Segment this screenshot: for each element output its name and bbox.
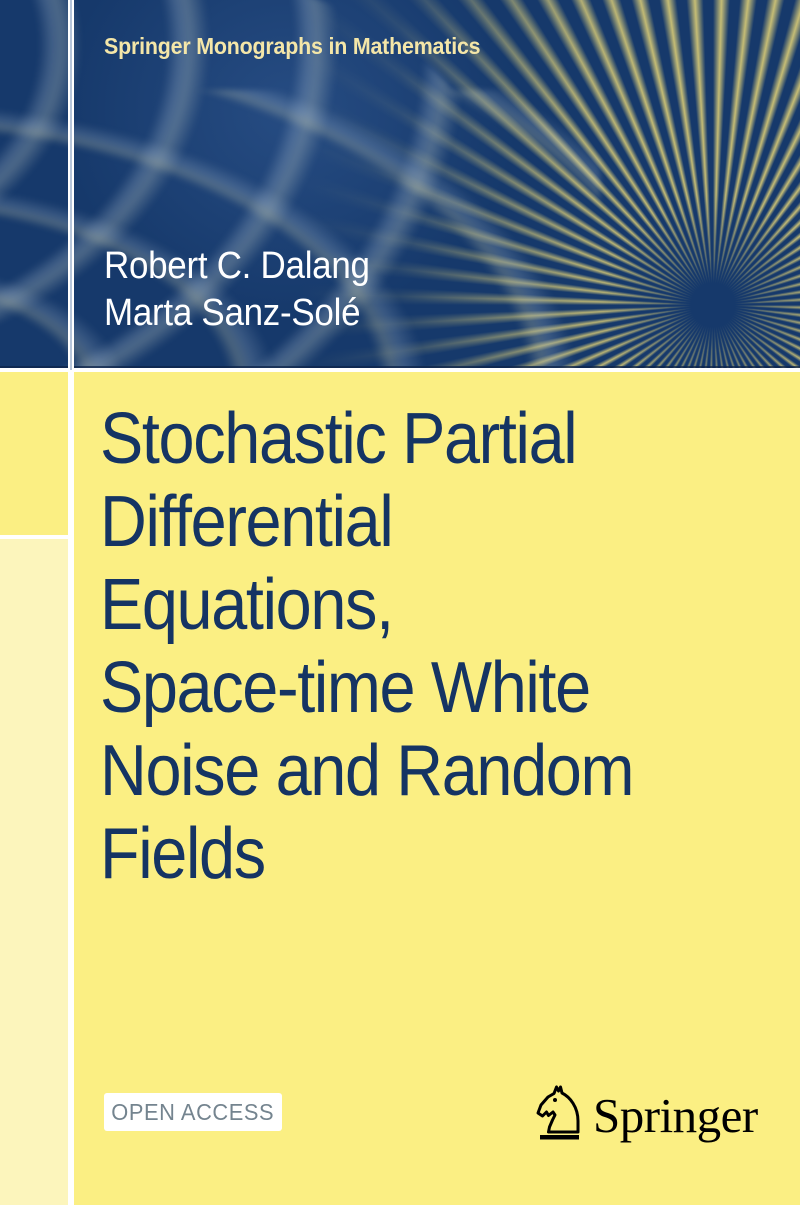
book-cover: Springer Monographs in Mathematics Rober… [0, 0, 800, 1205]
publisher-logo: Springer [533, 1082, 733, 1144]
spine-divider-line [70, 0, 72, 370]
open-access-badge-label: OPEN ACCESS [112, 1099, 275, 1126]
cover-header-artwork: Springer Monographs in Mathematics Rober… [0, 0, 800, 370]
title-line-4: Space-time White [100, 647, 676, 730]
author-name-secondary: Marta Sanz-Solé [104, 290, 370, 337]
book-title: Stochastic Partial Differential Equation… [100, 398, 740, 896]
spine-strip-lower [0, 539, 68, 1205]
title-line-1: Stochastic Partial [100, 398, 676, 481]
springer-knight-icon [533, 1082, 585, 1144]
author-list: Robert C. Dalang Marta Sanz-Solé [104, 243, 393, 337]
title-line-5: Noise and Random [100, 730, 676, 813]
title-line-2: Differential [100, 481, 676, 564]
series-title: Springer Monographs in Mathematics [104, 33, 480, 60]
author-name-primary: Robert C. Dalang [104, 243, 370, 290]
title-line-3: Equations, [100, 564, 676, 647]
open-access-badge: OPEN ACCESS [104, 1093, 282, 1131]
spine-strip-upper [0, 372, 68, 535]
springer-wordmark: Springer [593, 1091, 758, 1140]
title-line-6: Fields [100, 813, 676, 896]
